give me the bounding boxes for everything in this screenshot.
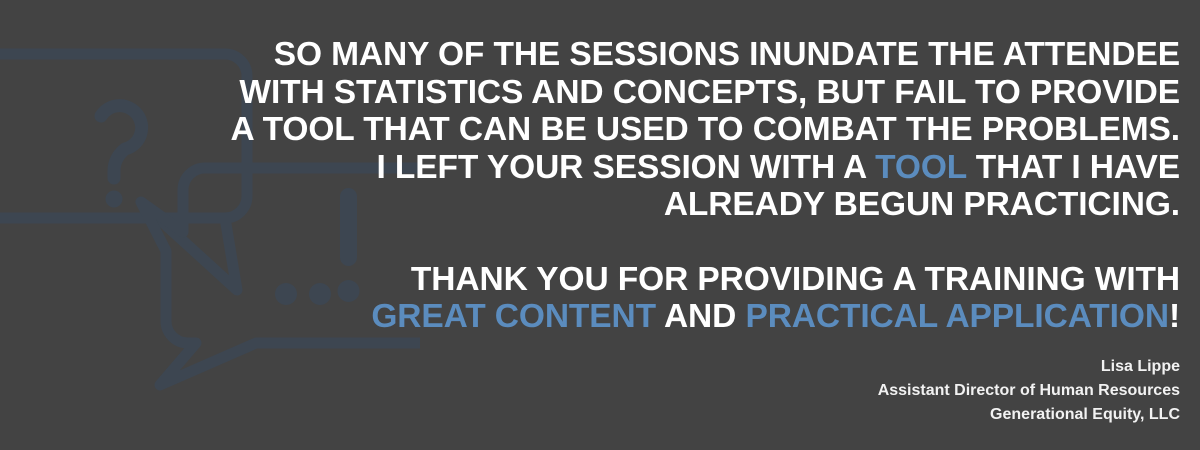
quote-line: WITH STATISTICS AND CONCEPTS, BUT FAIL T… bbox=[40, 74, 1180, 112]
quote-line: THANK YOU FOR PROVIDING A TRAINING WITH bbox=[40, 261, 1180, 299]
quote-text: THAT I HAVE bbox=[967, 149, 1180, 186]
paragraph-spacer bbox=[40, 224, 1180, 261]
quote-line: ALREADY BEGUN PRACTICING. bbox=[40, 186, 1180, 224]
quote-text: ! bbox=[1169, 298, 1180, 335]
quote-accent-text: GREAT CONTENT bbox=[371, 298, 656, 335]
quote-text: A TOOL THAT CAN BE USED TO COMBAT THE PR… bbox=[231, 111, 1180, 148]
quote-text: AND bbox=[656, 298, 745, 335]
attribution-block: Lisa Lippe Assistant Director of Human R… bbox=[480, 355, 1180, 427]
quote-accent-text: TOOL bbox=[875, 149, 966, 186]
quote-text: SO MANY OF THE SESSIONS INUNDATE THE ATT… bbox=[274, 36, 1180, 73]
quote-paragraph-1: SO MANY OF THE SESSIONS INUNDATE THE ATT… bbox=[40, 36, 1180, 224]
quote-accent-text: PRACTICAL APPLICATION bbox=[745, 298, 1168, 335]
quote-line: A TOOL THAT CAN BE USED TO COMBAT THE PR… bbox=[40, 111, 1180, 149]
quote-text: I LEFT YOUR SESSION WITH A bbox=[377, 149, 876, 186]
quote-text-block: SO MANY OF THE SESSIONS INUNDATE THE ATT… bbox=[40, 36, 1180, 336]
quote-line: I LEFT YOUR SESSION WITH A TOOL THAT I H… bbox=[40, 149, 1180, 187]
attribution-title: Assistant Director of Human Resources bbox=[480, 379, 1180, 403]
attribution-company: Generational Equity, LLC bbox=[480, 403, 1180, 427]
attribution-name: Lisa Lippe bbox=[480, 355, 1180, 379]
testimonial-slide: SO MANY OF THE SESSIONS INUNDATE THE ATT… bbox=[0, 0, 1200, 450]
quote-text: ALREADY BEGUN PRACTICING. bbox=[664, 186, 1180, 223]
quote-text: THANK YOU FOR PROVIDING A TRAINING WITH bbox=[411, 261, 1180, 298]
quote-text: WITH STATISTICS AND CONCEPTS, BUT FAIL T… bbox=[239, 74, 1180, 111]
quote-paragraph-2: THANK YOU FOR PROVIDING A TRAINING WITHG… bbox=[40, 261, 1180, 336]
quote-line: GREAT CONTENT AND PRACTICAL APPLICATION! bbox=[40, 298, 1180, 336]
quote-line: SO MANY OF THE SESSIONS INUNDATE THE ATT… bbox=[40, 36, 1180, 74]
